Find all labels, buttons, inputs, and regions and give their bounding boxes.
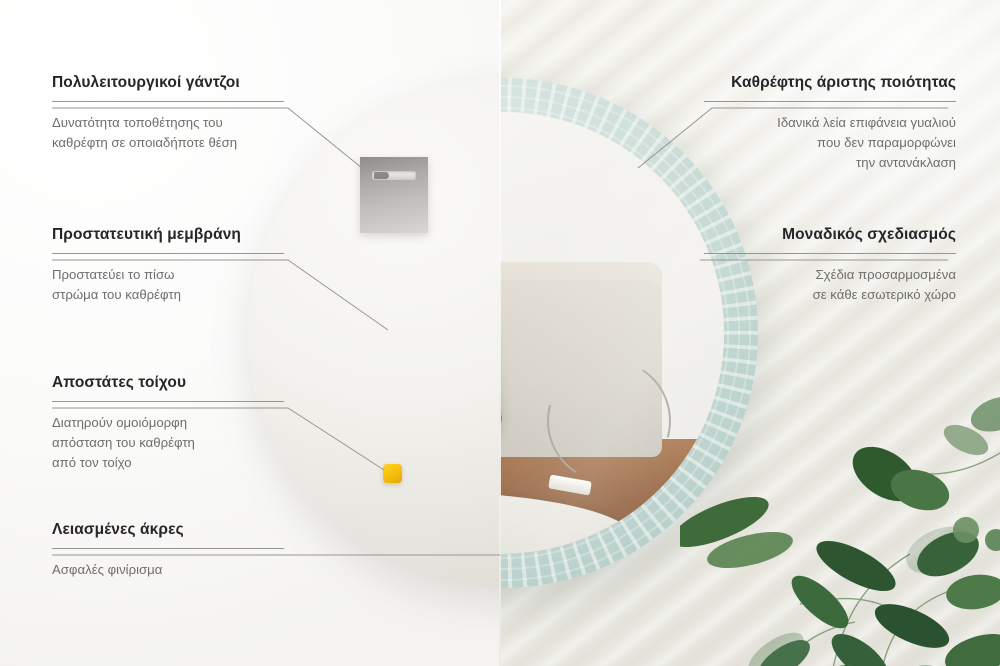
callout-hooks-description: Δυνατότητα τοποθέτησης του καθρέφτη σε ο… bbox=[52, 113, 284, 153]
callout-edges-rule bbox=[52, 548, 284, 549]
callout-quality-title: Καθρέφτης άριστης ποιότητας bbox=[704, 74, 956, 92]
callout-design-title: Μοναδικός σχεδιασμός bbox=[704, 226, 956, 244]
callout-membrane: Προστατευτική μεμβράνη Προστατεύει το πί… bbox=[52, 226, 284, 305]
callout-spacers-rule bbox=[52, 401, 284, 402]
panel-divider bbox=[499, 0, 501, 666]
callout-design: Μοναδικός σχεδιασμός Σχέδια προσαρμοσμέν… bbox=[704, 226, 956, 305]
callout-quality: Καθρέφτης άριστης ποιότητας Ιδανικά λεία… bbox=[704, 74, 956, 173]
hanging-hook-plate bbox=[360, 157, 428, 233]
hook-slot-icon bbox=[372, 171, 416, 180]
callout-hooks-title: Πολυλειτουργικοί γάντζοι bbox=[52, 74, 284, 92]
callout-membrane-title: Προστατευτική μεμβράνη bbox=[52, 226, 284, 244]
callout-spacers-title: Αποστάτες τοίχου bbox=[52, 374, 284, 392]
callout-design-rule bbox=[704, 253, 956, 254]
callout-membrane-rule bbox=[52, 253, 284, 254]
callout-quality-description: Ιδανικά λεία επιφάνεια γυαλιού που δεν π… bbox=[704, 113, 956, 173]
infographic-canvas: Πολυλειτουργικοί γάντζοι Δυνατότητα τοπο… bbox=[0, 0, 1000, 666]
callout-quality-rule bbox=[704, 101, 956, 102]
callout-spacers: Αποστάτες τοίχου Διατηρούν ομοιόμορφη απ… bbox=[52, 374, 284, 473]
callout-hooks-rule bbox=[52, 101, 284, 102]
callout-edges-title: Λειασμένες άκρες bbox=[52, 521, 284, 539]
callout-spacers-description: Διατηρούν ομοιόμορφη απόσταση του καθρέφ… bbox=[52, 413, 284, 473]
wall-spacer bbox=[383, 464, 402, 483]
callout-edges-description: Ασφαλές φινίρισμα bbox=[52, 560, 284, 580]
callout-hooks: Πολυλειτουργικοί γάντζοι Δυνατότητα τοπο… bbox=[52, 74, 284, 153]
callout-membrane-description: Προστατεύει το πίσω στρώμα του καθρέφτη bbox=[52, 265, 284, 305]
mirror-glass-reflection bbox=[499, 112, 724, 554]
callout-edges: Λειασμένες άκρες Ασφαλές φινίρισμα bbox=[52, 521, 284, 580]
callout-design-description: Σχέδια προσαρμοσμένα σε κάθε εσωτερικό χ… bbox=[704, 265, 956, 305]
mirror-back-disc bbox=[248, 78, 501, 588]
